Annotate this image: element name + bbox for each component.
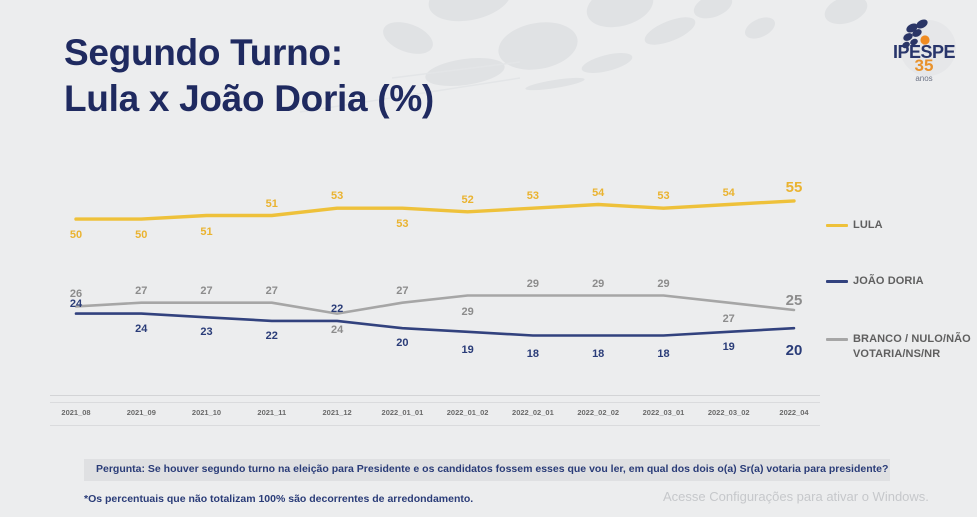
data-label: 27 bbox=[266, 285, 278, 297]
data-label: 22 bbox=[331, 303, 343, 315]
data-label: 50 bbox=[70, 229, 82, 241]
data-label: 51 bbox=[200, 226, 212, 238]
data-label: 52 bbox=[461, 194, 473, 206]
x-axis-tick-label: 2022_03_01 bbox=[643, 408, 685, 417]
data-label: 27 bbox=[135, 285, 147, 297]
x-axis-tick-label: 2022_01_02 bbox=[447, 408, 489, 417]
data-label: 53 bbox=[657, 190, 669, 202]
legend-item[interactable]: JOÃO DORIA bbox=[826, 274, 924, 289]
legend-item[interactable]: LULA bbox=[826, 218, 883, 233]
data-label: 51 bbox=[266, 198, 278, 210]
x-axis: 2021_082021_092021_102021_112021_122022_… bbox=[50, 402, 820, 426]
question-bar: Pergunta: Se houver segundo turno na ele… bbox=[84, 459, 890, 481]
data-label: 53 bbox=[331, 190, 343, 202]
data-label: 50 bbox=[135, 229, 147, 241]
data-label: 26 bbox=[70, 288, 82, 300]
data-label: 29 bbox=[527, 278, 539, 290]
data-label: 24 bbox=[331, 324, 343, 336]
data-label: 18 bbox=[527, 348, 539, 360]
data-label: 18 bbox=[592, 348, 604, 360]
x-axis-tick-label: 2021_08 bbox=[61, 408, 90, 417]
data-label: 53 bbox=[527, 190, 539, 202]
title-line-2: Lula x João Doria (%) bbox=[64, 76, 434, 122]
data-label: 53 bbox=[396, 218, 408, 230]
data-label: 25 bbox=[786, 292, 803, 309]
x-axis-tick-label: 2021_12 bbox=[322, 408, 351, 417]
line-chart: 5050515153535253545354552424232222201918… bbox=[0, 150, 977, 435]
rounding-note: *Os percentuais que não totalizam 100% s… bbox=[84, 493, 473, 505]
series-line bbox=[76, 201, 794, 219]
x-axis-tick-label: 2021_11 bbox=[257, 408, 286, 417]
ipespe-logo: IPESPE 35 anos bbox=[884, 12, 964, 88]
x-axis-tick-label: 2022_03_02 bbox=[708, 408, 750, 417]
data-label: 20 bbox=[396, 337, 408, 349]
data-label: 18 bbox=[657, 348, 669, 360]
data-label: 27 bbox=[723, 313, 735, 325]
data-label: 23 bbox=[200, 326, 212, 338]
data-label: 24 bbox=[135, 323, 147, 335]
data-label: 55 bbox=[786, 179, 803, 196]
x-axis-tick-label: 2021_10 bbox=[192, 408, 221, 417]
legend-label: LULA bbox=[853, 218, 883, 233]
logo-anos-label: anos bbox=[886, 74, 962, 83]
data-label: 20 bbox=[786, 342, 803, 359]
x-axis-tick-label: 2022_04 bbox=[779, 408, 808, 417]
x-axis-tick-label: 2021_09 bbox=[127, 408, 156, 417]
question-text: Pergunta: Se houver segundo turno na ele… bbox=[96, 463, 888, 475]
plot-area: 5050515153535253545354552424232222201918… bbox=[50, 150, 820, 400]
x-axis-tick-label: 2022_02_01 bbox=[512, 408, 554, 417]
x-axis-tick-label: 2022_01_01 bbox=[382, 408, 424, 417]
data-label: 19 bbox=[723, 341, 735, 353]
data-label: 27 bbox=[396, 285, 408, 297]
legend-swatch bbox=[826, 338, 848, 341]
header-banner: Segundo Turno: Lula x João Doria (%) IPE… bbox=[0, 0, 977, 150]
series-lines bbox=[50, 150, 820, 400]
title-line-1: Segundo Turno: bbox=[64, 32, 343, 73]
series-line bbox=[76, 314, 794, 336]
data-label: 27 bbox=[200, 285, 212, 297]
legend-label: BRANCO / NULO/NÃO VOTARIA/NS/NR bbox=[853, 332, 976, 362]
x-axis-tick-label: 2022_02_02 bbox=[577, 408, 619, 417]
logo-years: 35 bbox=[886, 56, 962, 76]
windows-activation-watermark: Acesse Configurações para ativar o Windo… bbox=[663, 489, 929, 504]
data-label: 19 bbox=[461, 344, 473, 356]
data-label: 22 bbox=[266, 330, 278, 342]
series-line bbox=[76, 296, 794, 314]
legend-swatch bbox=[826, 224, 848, 227]
page-title: Segundo Turno: Lula x João Doria (%) bbox=[64, 30, 434, 122]
legend-item[interactable]: BRANCO / NULO/NÃO VOTARIA/NS/NR bbox=[826, 332, 976, 362]
legend-swatch bbox=[826, 280, 848, 283]
data-label: 54 bbox=[723, 187, 735, 199]
data-label: 29 bbox=[592, 278, 604, 290]
data-label: 29 bbox=[657, 278, 669, 290]
axis-baseline bbox=[50, 395, 820, 396]
data-label: 54 bbox=[592, 187, 604, 199]
data-label: 29 bbox=[461, 306, 473, 318]
legend-label: JOÃO DORIA bbox=[853, 274, 924, 289]
